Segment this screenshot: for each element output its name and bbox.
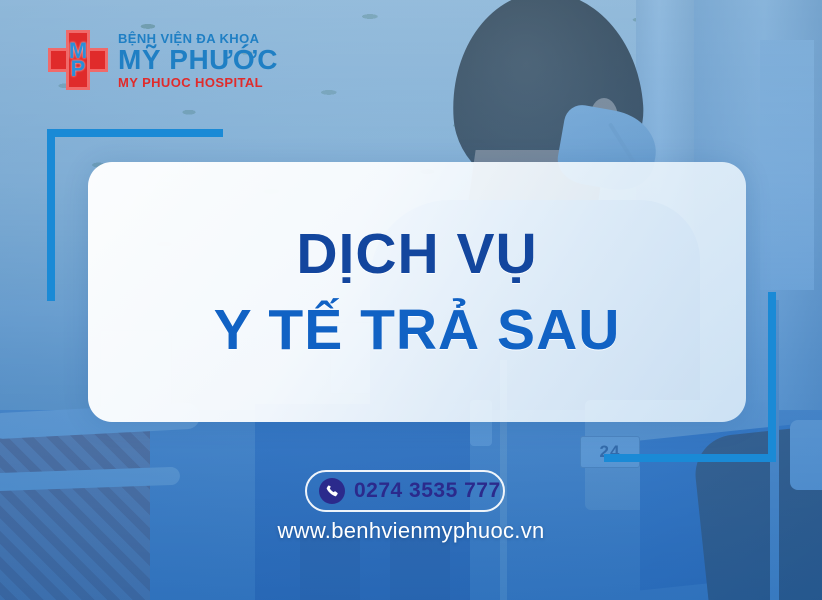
phone-icon <box>319 478 345 504</box>
headline-card-content: DỊCH VỤ Y TẾ TRẢ SAU <box>88 162 746 422</box>
headline-line-2: Y TẾ TRẢ SAU <box>214 300 621 360</box>
promo-poster: 24 DỊCH VỤ Y TẾ TRẢ SAU <box>0 0 822 600</box>
phone-number: 0274 3535 777 <box>354 479 501 503</box>
bracket-bottom-line <box>604 454 776 462</box>
logo-line-2: MỸ PHƯỚC <box>118 46 278 74</box>
medical-cross-icon: M P <box>48 30 108 90</box>
hospital-logo: M P BỆNH VIỆN ĐA KHOA MỸ PHƯỚC MY PHUOC … <box>48 30 278 90</box>
logo-wordmark: BỆNH VIỆN ĐA KHOA MỸ PHƯỚC MY PHUOC HOSP… <box>118 32 278 89</box>
logo-line-1: BỆNH VIỆN ĐA KHOA <box>118 32 278 45</box>
website-url[interactable]: www.benhvienmyphuoc.vn <box>0 518 822 544</box>
phone-contact-pill[interactable]: 0274 3535 777 <box>305 470 505 512</box>
headline-line-1: DỊCH VỤ <box>296 224 537 284</box>
headline-card: DỊCH VỤ Y TẾ TRẢ SAU <box>88 162 746 422</box>
bracket-left-line <box>47 129 55 301</box>
logo-monogram: M P <box>48 30 108 90</box>
logo-line-3: MY PHUOC HOSPITAL <box>118 76 278 89</box>
logo-monogram-p: P <box>71 60 86 78</box>
bracket-top-line <box>47 129 223 137</box>
bracket-right-line <box>768 292 776 462</box>
